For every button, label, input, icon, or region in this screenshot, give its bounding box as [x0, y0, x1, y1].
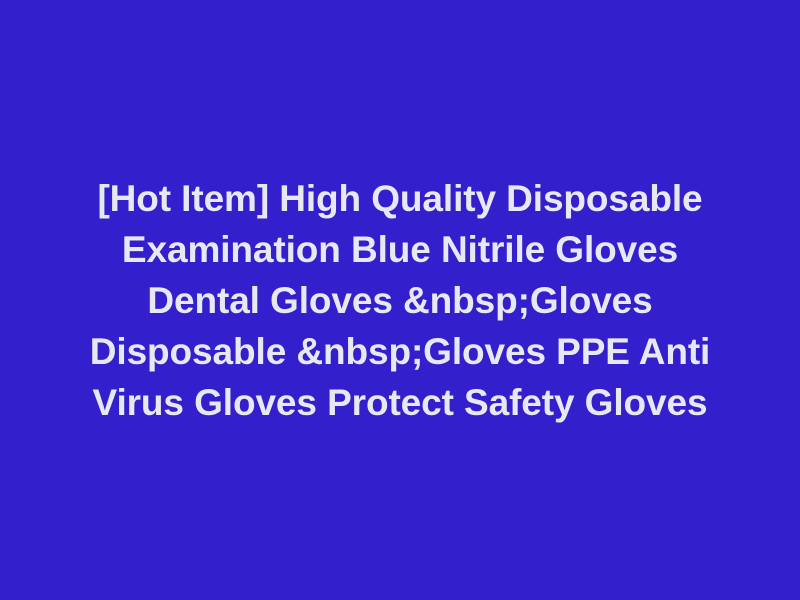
title-card: [Hot Item] High Quality Disposable Exami… — [0, 0, 800, 600]
title-block: [Hot Item] High Quality Disposable Exami… — [76, 173, 724, 428]
page-title: [Hot Item] High Quality Disposable Exami… — [76, 173, 724, 428]
